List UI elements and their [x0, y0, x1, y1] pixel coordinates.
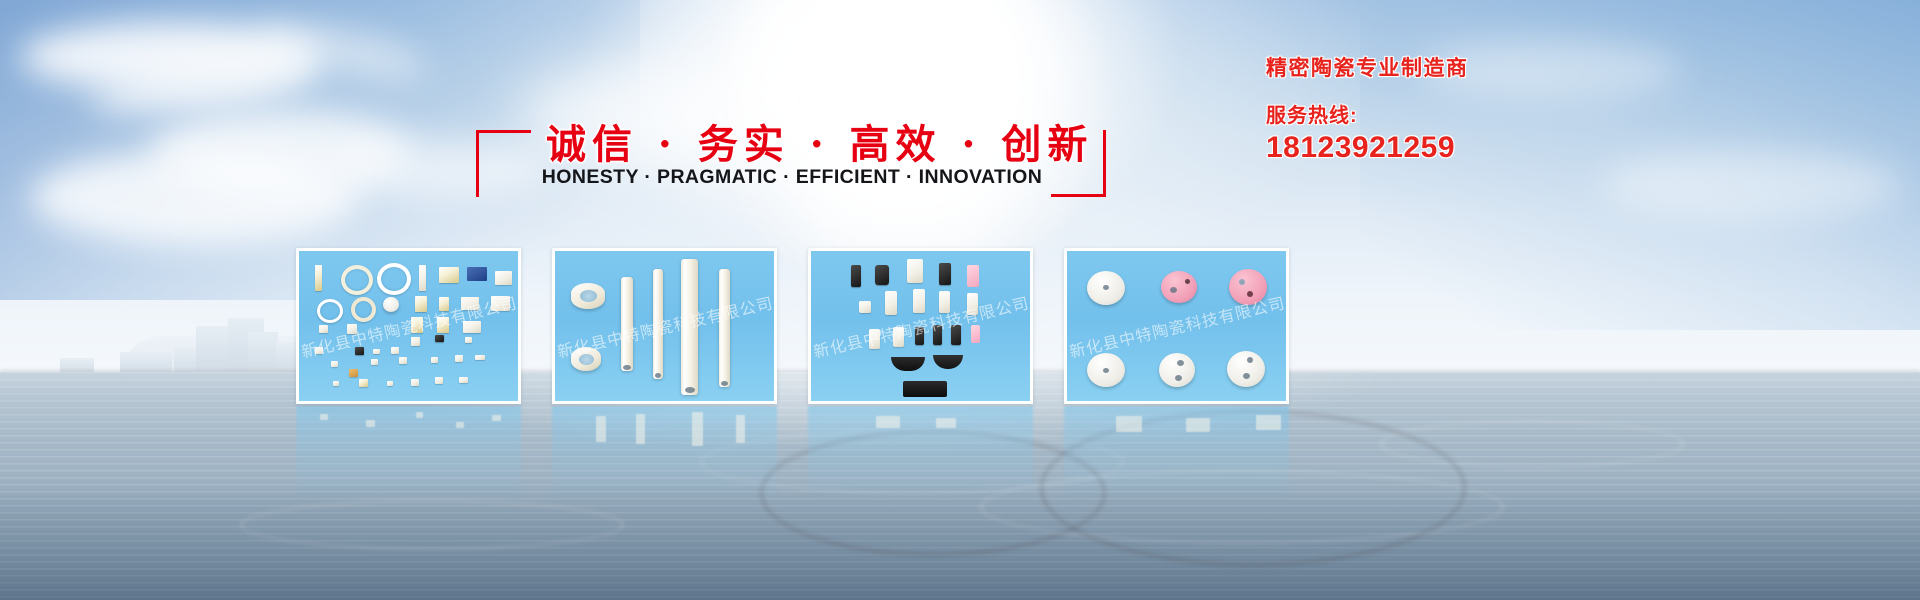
- reflection-speck: [876, 416, 900, 428]
- reflection-speck: [936, 418, 956, 428]
- product-panel-1-image: 新化县中特陶瓷科技有限公司: [299, 251, 518, 401]
- reflection-speck: [416, 412, 423, 418]
- product-panel-2[interactable]: 新化县中特陶瓷科技有限公司: [552, 248, 777, 404]
- cloud: [30, 150, 360, 245]
- hero-banner: 诚信 · 务实 · 高效 · 创新 HONESTY · PRAGMATIC · …: [0, 0, 1920, 600]
- reflection-speck: [1186, 418, 1210, 432]
- product-panel-3[interactable]: 新化县中特陶瓷科技有限公司: [808, 248, 1033, 404]
- water-ripple: [240, 500, 624, 550]
- slogan-chinese: 诚信 · 务实 · 高效 · 创新: [546, 112, 1038, 170]
- reflection-speck: [692, 412, 703, 446]
- reflection-speck: [636, 414, 645, 444]
- reflection-speck: [736, 415, 745, 443]
- bracket-left-icon: [476, 130, 531, 197]
- panel-reflection: [296, 406, 521, 502]
- product-panel-row: 新化县中特陶瓷科技有限公司 新化县中特陶瓷科技有限公司: [296, 248, 1526, 404]
- reflection-speck: [366, 420, 375, 427]
- panel-reflections: [296, 406, 1526, 502]
- product-panel-4-image: 新化县中特陶瓷科技有限公司: [1067, 251, 1286, 401]
- company-tagline: 精密陶瓷专业制造商: [1266, 52, 1686, 82]
- slogan-block: 诚信 · 务实 · 高效 · 创新 HONESTY · PRAGMATIC · …: [476, 112, 1106, 204]
- product-panel-4[interactable]: 新化县中特陶瓷科技有限公司: [1064, 248, 1289, 404]
- product-panel-2-image: 新化县中特陶瓷科技有限公司: [555, 251, 774, 401]
- slogan-english: HONESTY · PRAGMATIC · EFFICIENT · INNOVA…: [536, 166, 1048, 189]
- hotline-phone[interactable]: 18123921259: [1266, 131, 1686, 165]
- product-panel-1[interactable]: 新化县中特陶瓷科技有限公司: [296, 248, 521, 404]
- hotline-label: 服务热线:: [1266, 99, 1686, 128]
- product-panel-3-image: 新化县中特陶瓷科技有限公司: [811, 251, 1030, 401]
- reflection-speck: [492, 415, 501, 421]
- reflection-speck: [596, 416, 606, 442]
- reflection-speck: [1116, 416, 1142, 432]
- reflection-speck: [320, 414, 328, 420]
- reflection-speck: [456, 422, 464, 428]
- panel-reflection: [808, 406, 1033, 502]
- reflection-speck: [1256, 415, 1281, 430]
- contact-block: 精密陶瓷专业制造商 服务热线: 18123921259: [1266, 52, 1686, 165]
